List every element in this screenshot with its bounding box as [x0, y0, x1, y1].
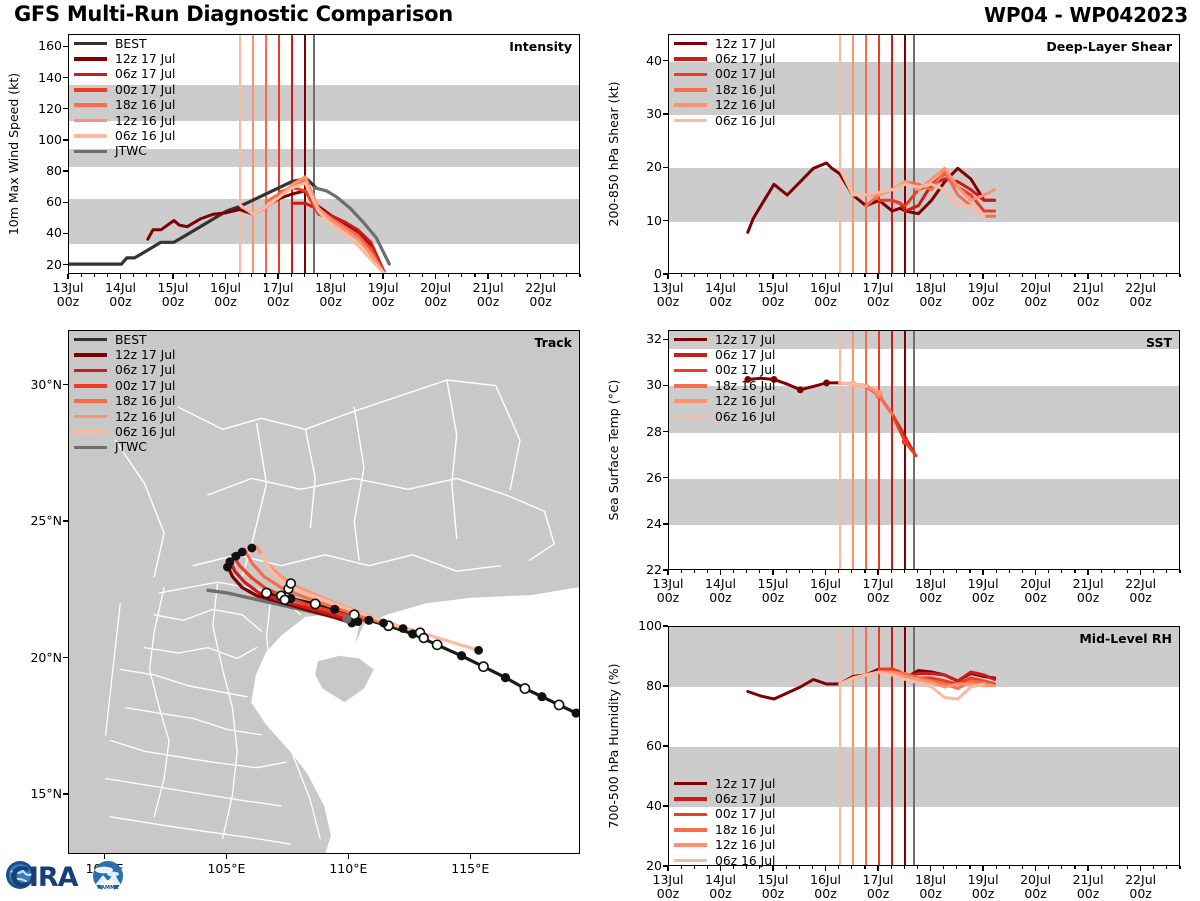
legend-label: 12z 17 Jul — [715, 37, 775, 51]
track-marker-00z — [457, 651, 466, 660]
legend-color-swatch — [74, 73, 107, 77]
forecast-open-marker — [419, 634, 428, 643]
legend-item: 12z 17 Jul — [674, 36, 775, 51]
x-tick-mark — [277, 274, 278, 279]
legend-color-swatch — [674, 828, 707, 832]
track-marker-00z — [501, 673, 510, 682]
legend-label: 06z 17 Jul — [715, 792, 775, 806]
x-minor-tick — [1101, 274, 1102, 277]
x-tick-mark — [930, 274, 931, 279]
x-minor-tick — [1048, 274, 1049, 277]
track-marker-00z — [364, 616, 373, 625]
legend-color-swatch — [674, 88, 707, 92]
x-minor-tick — [864, 274, 865, 277]
y-tick-label: 20 — [24, 257, 62, 272]
panel-title-shear: Deep-Layer Shear — [1046, 39, 1172, 54]
legend-label: 12z 17 Jul — [115, 52, 175, 66]
legend-label: 18z 16 Jul — [115, 394, 175, 408]
x-minor-tick — [956, 866, 957, 869]
x-minor-tick — [904, 274, 905, 277]
x-minor-tick — [566, 274, 567, 277]
x-minor-tick — [1114, 274, 1115, 277]
legend-color-swatch — [74, 57, 107, 61]
x-minor-tick — [553, 274, 554, 277]
y-tick-label: 40 — [624, 798, 662, 813]
x-tick-mark — [330, 274, 331, 279]
forecast-origin-marker — [474, 646, 483, 655]
track-marker-00z — [537, 692, 546, 701]
x-minor-tick — [1061, 866, 1062, 869]
series-line — [748, 163, 995, 232]
y-tick-mark — [663, 167, 668, 168]
x-tick-mark — [1087, 274, 1088, 279]
legend-label: 06z 16 Jul — [715, 114, 775, 128]
legend-item: BEST — [74, 36, 175, 51]
x-minor-tick — [186, 274, 187, 277]
legend-color-swatch — [674, 57, 707, 61]
legend-label: BEST — [115, 333, 147, 347]
x-minor-tick — [812, 866, 813, 869]
legend-label: 06z 16 Jul — [715, 854, 775, 868]
legend-item: 00z 17 Jul — [74, 378, 175, 393]
legend-item: 12z 16 Jul — [74, 113, 175, 128]
legend-label: 00z 17 Jul — [715, 363, 775, 377]
lat-tick-mark — [63, 657, 68, 658]
series-point — [876, 390, 883, 397]
legend-color-swatch — [74, 119, 107, 123]
x-minor-tick — [579, 274, 580, 277]
y-tick-label: 26 — [624, 470, 662, 485]
series-line — [292, 203, 384, 272]
x-minor-tick — [448, 274, 449, 277]
panel-track: Track30°N25°N20°N15°N100°E105°E110°E115°… — [68, 330, 580, 854]
legend-item: 12z 17 Jul — [74, 347, 175, 362]
legend-label: 12z 17 Jul — [715, 333, 775, 347]
x-minor-tick — [799, 866, 800, 869]
track-marker-12z — [479, 662, 488, 671]
legend-item: 06z 16 Jul — [674, 853, 775, 868]
storm-id-label: WP04 - WP042023 — [984, 3, 1188, 27]
x-minor-tick — [917, 570, 918, 573]
y-axis-label-shear: 200-850 hPa Shear (kt) — [606, 82, 621, 227]
legend-color-swatch — [674, 338, 707, 342]
track-marker-00z — [330, 605, 339, 614]
legend-label: 12z 16 Jul — [715, 394, 775, 408]
x-minor-tick — [786, 866, 787, 869]
panel-title-track: Track — [535, 335, 572, 350]
y-axis-label-rh: 700-500 hPa Humidity (%) — [606, 663, 621, 828]
y-tick-label: 24 — [624, 516, 662, 531]
y-tick-mark — [663, 60, 668, 61]
legend-label: 06z 16 Jul — [115, 129, 175, 143]
page-header: GFS Multi-Run Diagnostic Comparison WP04… — [0, 0, 1200, 26]
legend-label: 06z 17 Jul — [115, 363, 175, 377]
x-minor-tick — [969, 274, 970, 277]
y-tick-label: 28 — [624, 424, 662, 439]
series-point — [823, 380, 830, 387]
y-tick-label: 30 — [624, 377, 662, 392]
x-tick-mark — [877, 274, 878, 279]
x-minor-tick — [304, 274, 305, 277]
lon-tick-mark — [226, 854, 227, 859]
x-minor-tick — [251, 274, 252, 277]
lon-tick-label: 105°E — [186, 862, 266, 876]
x-minor-tick — [1166, 866, 1167, 869]
legend-item: 18z 16 Jul — [74, 394, 175, 409]
x-tick-mark — [982, 570, 983, 575]
x-minor-tick — [956, 274, 957, 277]
x-minor-tick — [1074, 866, 1075, 869]
legend-item: 06z 16 Jul — [674, 113, 775, 128]
x-minor-tick — [1061, 274, 1062, 277]
legend-item: 00z 17 Jul — [74, 82, 175, 97]
legend-item: 06z 17 Jul — [674, 51, 775, 66]
legend-color-swatch — [674, 103, 707, 107]
legend-color-swatch — [674, 353, 707, 357]
y-tick-label: 80 — [24, 163, 62, 178]
y-tick-label: 120 — [24, 101, 62, 116]
y-tick-label: 22 — [624, 562, 662, 577]
legend-label: 00z 17 Jul — [115, 83, 175, 97]
panel-title-sst: SST — [1146, 335, 1172, 350]
x-tick-mark — [930, 866, 931, 871]
forecast-origin-marker — [379, 619, 388, 628]
x-minor-tick — [1127, 570, 1128, 573]
x-minor-tick — [917, 866, 918, 869]
x-tick-mark — [720, 570, 721, 575]
x-tick-mark — [982, 274, 983, 279]
legend-item: 06z 16 Jul — [74, 128, 175, 143]
x-minor-tick — [1101, 570, 1102, 573]
series-point — [902, 438, 909, 445]
x-minor-tick — [1061, 570, 1062, 573]
x-tick-mark — [877, 570, 878, 575]
x-minor-tick — [81, 274, 82, 277]
x-minor-tick — [786, 570, 787, 573]
x-minor-tick — [317, 274, 318, 277]
x-tick-label: 22Jul00z — [1105, 873, 1177, 901]
x-tick-mark — [435, 274, 436, 279]
track-marker-12z — [520, 684, 529, 693]
panel-title-rh: Mid-Level RH — [1079, 631, 1172, 646]
x-tick-mark — [1087, 866, 1088, 871]
x-minor-tick — [1127, 866, 1128, 869]
x-minor-tick — [199, 274, 200, 277]
lon-tick-label: 115°E — [430, 862, 510, 876]
y-tick-mark — [663, 745, 668, 746]
x-minor-tick — [996, 274, 997, 277]
legend-item: 18z 16 Jul — [674, 822, 775, 837]
lon-tick-mark — [470, 854, 471, 859]
legend-color-swatch — [74, 430, 107, 434]
y-tick-label: 100 — [24, 132, 62, 147]
legend-label: 18z 16 Jul — [715, 379, 775, 393]
legend-color-swatch — [74, 150, 107, 154]
x-minor-tick — [264, 274, 265, 277]
x-minor-tick — [501, 274, 502, 277]
legend-sst: 12z 17 Jul06z 17 Jul00z 17 Jul18z 16 Jul… — [674, 332, 775, 424]
legend-item: JTWC — [74, 144, 175, 159]
lat-tick-label: 25°N — [12, 513, 62, 528]
x-minor-tick — [838, 570, 839, 573]
x-tick-mark — [720, 274, 721, 279]
x-minor-tick — [238, 274, 239, 277]
x-minor-tick — [1022, 866, 1023, 869]
legend-color-swatch — [74, 399, 107, 403]
lat-tick-mark — [63, 384, 68, 385]
legend-label: 12z 16 Jul — [115, 410, 175, 424]
legend-label: 06z 17 Jul — [715, 348, 775, 362]
y-tick-label: 40 — [624, 53, 662, 68]
x-minor-tick — [514, 274, 515, 277]
x-minor-tick — [107, 274, 108, 277]
legend-label: 18z 16 Jul — [715, 83, 775, 97]
x-tick-mark — [1140, 866, 1141, 871]
lat-tick-mark — [63, 793, 68, 794]
legend-item: 12z 16 Jul — [674, 838, 775, 853]
x-minor-tick — [1009, 866, 1010, 869]
legend-item: JTWC — [74, 440, 175, 455]
x-minor-tick — [851, 866, 852, 869]
x-minor-tick — [943, 866, 944, 869]
legend-color-swatch — [74, 369, 107, 373]
forecast-origin-marker — [223, 563, 232, 572]
x-minor-tick — [786, 274, 787, 277]
lat-tick-label: 30°N — [12, 377, 62, 392]
y-tick-label: 20 — [624, 858, 662, 873]
y-tick-label: 10 — [624, 213, 662, 228]
legend-item: 18z 16 Jul — [674, 378, 775, 393]
x-minor-tick — [1022, 274, 1023, 277]
legend-color-swatch — [74, 134, 107, 138]
x-tick-mark — [540, 274, 541, 279]
x-minor-tick — [1153, 570, 1154, 573]
legend-color-swatch — [74, 103, 107, 107]
x-tick-mark — [1140, 274, 1141, 279]
x-minor-tick — [746, 570, 747, 573]
legend-item: 06z 17 Jul — [74, 363, 175, 378]
x-minor-tick — [1009, 570, 1010, 573]
legend-color-swatch — [674, 782, 707, 786]
y-tick-label: 160 — [24, 38, 62, 53]
y-tick-mark — [663, 523, 668, 524]
x-tick-mark — [172, 274, 173, 279]
legend-item: 12z 17 Jul — [674, 332, 775, 347]
x-minor-tick — [1074, 274, 1075, 277]
forecast-open-marker — [286, 579, 295, 588]
x-minor-tick — [969, 866, 970, 869]
legend-label: 12z 16 Jul — [715, 838, 775, 852]
x-minor-tick — [917, 274, 918, 277]
track-marker-12z — [554, 700, 563, 709]
y-tick-label: 60 — [24, 194, 62, 209]
legend-label: 12z 17 Jul — [715, 777, 775, 791]
legend-label: 12z 17 Jul — [115, 348, 175, 362]
x-minor-tick — [343, 274, 344, 277]
x-minor-tick — [159, 274, 160, 277]
x-minor-tick — [146, 274, 147, 277]
x-minor-tick — [904, 570, 905, 573]
x-tick-mark — [667, 570, 668, 575]
legend-item: 06z 16 Jul — [74, 424, 175, 439]
svg-text:CIRA: CIRA — [10, 862, 79, 893]
x-minor-tick — [799, 570, 800, 573]
legend-item: 12z 16 Jul — [674, 98, 775, 113]
y-tick-mark — [63, 170, 68, 171]
y-tick-mark — [663, 385, 668, 386]
legend-item: 00z 17 Jul — [674, 363, 775, 378]
x-minor-tick — [291, 274, 292, 277]
x-minor-tick — [1009, 274, 1010, 277]
x-minor-tick — [422, 274, 423, 277]
x-minor-tick — [746, 274, 747, 277]
y-tick-mark — [663, 113, 668, 114]
y-axis-label-sst: Sea Surface Temp (°C) — [606, 380, 621, 521]
x-minor-tick — [1153, 274, 1154, 277]
x-minor-tick — [1048, 866, 1049, 869]
y-tick-mark — [663, 339, 668, 340]
legend-label: JTWC — [115, 144, 147, 158]
y-tick-label: 100 — [624, 618, 662, 633]
legend-item: 06z 17 Jul — [674, 347, 775, 362]
panel-shear: Deep-Layer Shear010203040200-850 hPa She… — [668, 34, 1180, 274]
x-tick-mark — [382, 274, 383, 279]
x-tick-mark — [225, 274, 226, 279]
legend-color-swatch — [674, 813, 707, 817]
legend-label: 06z 17 Jul — [715, 52, 775, 66]
y-tick-label: 0 — [624, 266, 662, 281]
x-minor-tick — [864, 866, 865, 869]
x-minor-tick — [733, 570, 734, 573]
legend-item: 18z 16 Jul — [74, 98, 175, 113]
x-tick-mark — [772, 274, 773, 279]
x-tick-mark — [772, 570, 773, 575]
legend-track: BEST12z 17 Jul06z 17 Jul00z 17 Jul18z 16… — [74, 332, 175, 455]
x-minor-tick — [891, 274, 892, 277]
x-tick-mark — [1035, 274, 1036, 279]
y-tick-label: 140 — [24, 70, 62, 85]
y-tick-mark — [663, 625, 668, 626]
y-tick-mark — [63, 202, 68, 203]
x-minor-tick — [943, 570, 944, 573]
x-minor-tick — [943, 274, 944, 277]
x-minor-tick — [799, 274, 800, 277]
x-tick-date: 22Jul — [1105, 281, 1177, 295]
x-tick-mark — [825, 866, 826, 871]
lat-tick-label: 20°N — [12, 650, 62, 665]
panel-rh: Mid-Level RH20406080100700-500 hPa Humid… — [668, 626, 1180, 866]
x-tick-mark — [67, 274, 68, 279]
legend-item: 12z 16 Jul — [674, 394, 775, 409]
x-minor-tick — [759, 570, 760, 573]
x-tick-mark — [825, 274, 826, 279]
jtwc-marker — [342, 614, 351, 623]
legend-color-swatch — [674, 369, 707, 373]
y-tick-mark — [663, 220, 668, 221]
page-title: GFS Multi-Run Diagnostic Comparison — [14, 2, 453, 26]
x-minor-tick — [1166, 570, 1167, 573]
legend-color-swatch — [74, 415, 107, 419]
x-minor-tick — [1153, 866, 1154, 869]
x-minor-tick — [969, 570, 970, 573]
x-tick-mark — [1035, 570, 1036, 575]
x-tick-date: 22Jul — [505, 281, 577, 295]
x-minor-tick — [996, 866, 997, 869]
y-tick-mark — [663, 477, 668, 478]
x-tick-mark — [487, 274, 488, 279]
x-tick-mark — [982, 866, 983, 871]
legend-color-swatch — [674, 384, 707, 388]
legend-item: 18z 16 Jul — [674, 82, 775, 97]
x-minor-tick — [369, 274, 370, 277]
x-minor-tick — [812, 570, 813, 573]
legend-label: 06z 16 Jul — [115, 425, 175, 439]
x-tick-label: 22Jul00z — [505, 281, 577, 309]
x-tick-hour: 00z — [1105, 887, 1177, 901]
x-minor-tick — [681, 570, 682, 573]
lat-tick-label: 15°N — [12, 786, 62, 801]
legend-color-swatch — [674, 843, 707, 847]
panel-sst: SST222426283032Sea Surface Temp (°C)13Ju… — [668, 330, 1180, 570]
forecast-open-marker — [280, 595, 289, 604]
x-minor-tick — [356, 274, 357, 277]
legend-color-swatch — [74, 42, 107, 46]
legend-color-swatch — [674, 859, 707, 863]
x-minor-tick — [694, 274, 695, 277]
x-minor-tick — [838, 866, 839, 869]
y-tick-label: 20 — [624, 159, 662, 174]
x-tick-mark — [930, 570, 931, 575]
legend-color-swatch — [674, 399, 707, 403]
x-tick-date: 22Jul — [1105, 873, 1177, 887]
track-marker-12z — [311, 599, 320, 608]
x-minor-tick — [956, 570, 957, 573]
x-minor-tick — [851, 570, 852, 573]
x-tick-mark — [667, 274, 668, 279]
series-point — [849, 381, 856, 388]
x-tick-date: 22Jul — [1105, 577, 1177, 591]
x-tick-mark — [1035, 866, 1036, 871]
legend-color-swatch — [74, 88, 107, 92]
x-minor-tick — [707, 274, 708, 277]
legend-label: 12z 16 Jul — [715, 98, 775, 112]
legend-color-swatch — [74, 384, 107, 388]
legend-color-swatch — [74, 353, 107, 357]
legend-intensity: BEST12z 17 Jul06z 17 Jul00z 17 Jul18z 16… — [74, 36, 175, 159]
legend-label: 18z 16 Jul — [715, 823, 775, 837]
x-minor-tick — [707, 570, 708, 573]
x-minor-tick — [1074, 570, 1075, 573]
y-tick-mark — [663, 431, 668, 432]
x-minor-tick — [733, 274, 734, 277]
x-tick-mark — [667, 866, 668, 871]
legend-color-swatch — [74, 338, 107, 342]
y-tick-mark — [63, 139, 68, 140]
y-tick-mark — [663, 805, 668, 806]
x-minor-tick — [1114, 570, 1115, 573]
x-minor-tick — [681, 274, 682, 277]
legend-color-swatch — [674, 73, 707, 77]
x-tick-hour: 00z — [505, 295, 577, 309]
legend-item: 00z 17 Jul — [674, 807, 775, 822]
panel-title-intensity: Intensity — [509, 39, 572, 54]
forecast-origin-marker — [247, 544, 256, 553]
forecast-origin-marker — [238, 548, 247, 557]
x-minor-tick — [527, 274, 528, 277]
legend-item: 12z 16 Jul — [74, 409, 175, 424]
x-tick-hour: 00z — [1105, 295, 1177, 309]
x-tick-mark — [1087, 570, 1088, 575]
